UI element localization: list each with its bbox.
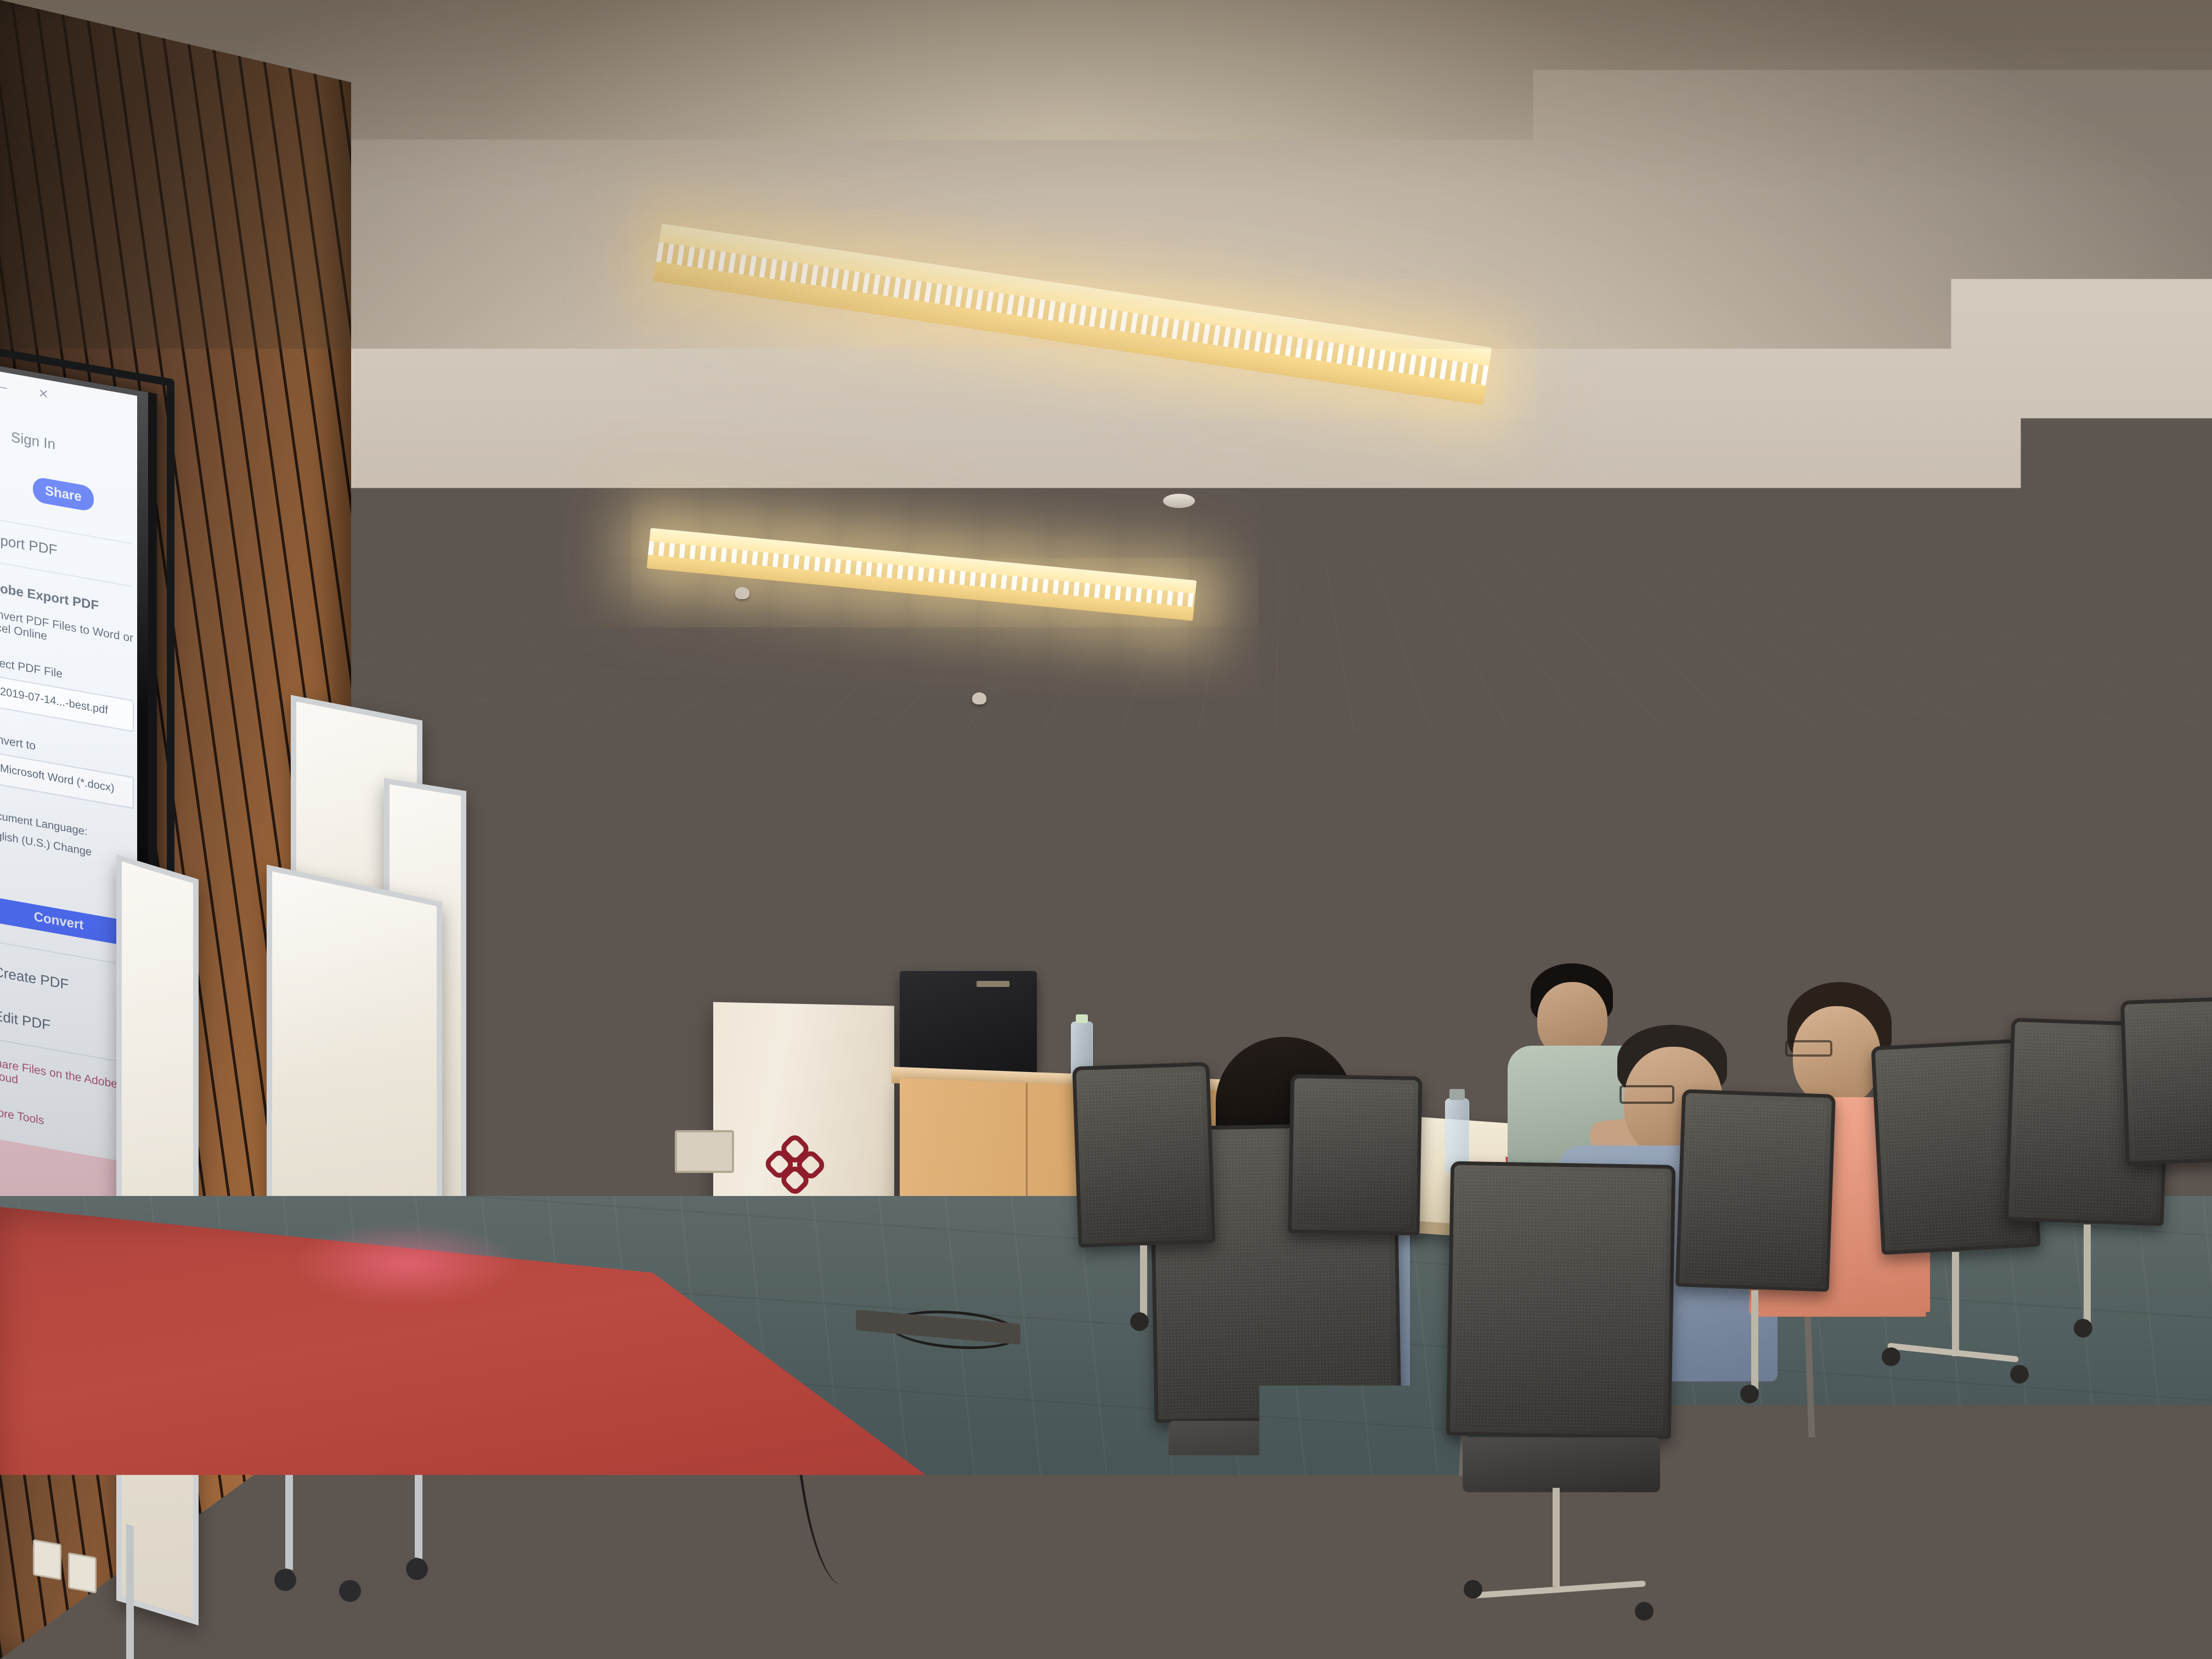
slide-by-label: by	[1157, 827, 1513, 837]
chair-empty-center[interactable]	[1289, 1075, 1426, 1311]
email-icon[interactable]: ✉	[1177, 755, 1187, 765]
chair-mesh-back-4	[1296, 1082, 1414, 1227]
chair-caster-7	[1882, 1347, 1900, 1366]
selected-pdf-field[interactable]: 2019-07-14...-best.pdf ✕	[1551, 827, 1615, 836]
folder-icon	[1140, 1029, 1144, 1035]
chair-mesh-back-11	[1980, 1322, 2212, 1563]
menu-view[interactable]: View	[1160, 726, 1170, 732]
acrobat-icon	[1129, 715, 1134, 721]
page-number-field[interactable]: 1	[1270, 759, 1273, 764]
chair-post-5	[1952, 1252, 1959, 1356]
slide-footer-right: 2019-07-14--revised--2019-07-15a-seminar…	[1378, 1014, 1460, 1020]
chair-caster-2	[1355, 1603, 1374, 1622]
convert-to-label: Convert to	[1551, 843, 1570, 848]
chair-post-6	[2084, 1224, 2091, 1323]
document-tab-close-icon[interactable]: ✕	[1243, 741, 1247, 747]
chair-caster	[1176, 1587, 1195, 1605]
chair-mesh-back-3	[1081, 1070, 1207, 1239]
sign-in-link[interactable]: Sign In	[1599, 743, 1617, 749]
chair-leg-bar	[1185, 1572, 1366, 1594]
minimize-icon[interactable]: –	[1585, 719, 1589, 726]
page-up-icon[interactable]: △	[1241, 756, 1251, 766]
bottle-cap	[1076, 1014, 1088, 1023]
chair-empty-left[interactable]	[1075, 1064, 1218, 1350]
print-icon[interactable]: 🖨	[1162, 755, 1172, 765]
window-controls[interactable]: – ❐ ✕	[1585, 719, 1619, 727]
slide-author: Sami F Masri	[1157, 838, 1513, 850]
menu-file[interactable]: File	[1130, 726, 1138, 732]
export-panel-header-label: Export PDF	[1561, 780, 1587, 786]
attendee-glasses	[1620, 1085, 1674, 1104]
export-panel-header[interactable]: Export PDF	[1547, 776, 1622, 789]
carpet-light-spill	[291, 1222, 521, 1305]
monitor-brand-badge	[977, 981, 1009, 987]
clear-selection-icon[interactable]: ✕	[1609, 830, 1612, 834]
share-button[interactable]: ⤒ Share	[1584, 759, 1617, 770]
av-monitor[interactable]	[900, 971, 1037, 1075]
fit-page-icon[interactable]: ☐	[1355, 757, 1364, 767]
highlight-icon[interactable]: ✎	[1401, 758, 1410, 768]
convert-to-value: Microsoft Word (*.docx)	[1554, 853, 1594, 857]
menu-edit[interactable]: Edit	[1145, 726, 1153, 732]
convert-to-select[interactable]: Microsoft Word (*.docx) ⌄	[1551, 851, 1615, 860]
presenter-glasses	[782, 888, 824, 898]
document-language-value[interactable]: English (U.S.) Change	[1551, 876, 1590, 882]
hand-tool-icon[interactable]: ✋	[1294, 757, 1304, 766]
wastebasket	[675, 1130, 734, 1173]
windows-start-icon[interactable]	[1126, 1029, 1132, 1035]
document-tab-label: 2019-07-14--revi...	[1197, 740, 1238, 746]
comment-icon[interactable]: 🗨	[1385, 758, 1395, 768]
menu-window[interactable]: Window	[1177, 727, 1194, 732]
export-pdf-icon	[1552, 779, 1558, 786]
share-icon: ⤒	[1590, 761, 1592, 768]
collapse-icon[interactable]: ▲	[1611, 781, 1616, 786]
window-blind-far-right[interactable]	[2063, 730, 2210, 840]
lecture-room-photo: – ✕ Sign In Share Export PDF Adobe Expor…	[0, 0, 2212, 1659]
acrobat-taskbar-icon	[1186, 1029, 1190, 1035]
export-panel-subtitle: Convert PDF Files to Word or Excel Onlin…	[1551, 800, 1615, 812]
window-title-text: 2019-07-14--revised--2019-07-15a-seminar…	[1136, 716, 1496, 725]
zoom-out-icon[interactable]: ⊖	[1309, 757, 1319, 766]
chair-post-3	[1140, 1245, 1147, 1317]
slide-venue: Hong Kong Polytechnic University	[1156, 946, 1511, 958]
page-down-icon[interactable]: ▽	[1256, 756, 1266, 766]
slide-title: Structural Vibration Control of Nonlinea…	[1158, 791, 1513, 806]
chevron-down-icon[interactable]: ⌄	[1609, 854, 1612, 858]
chair-foreground-far-right[interactable]	[1986, 1328, 2212, 1657]
save-icon[interactable]: ⦻	[1147, 755, 1156, 765]
menu-help[interactable]: Help	[1201, 727, 1211, 732]
select-tool-icon[interactable]: ➤	[1278, 757, 1288, 766]
selected-pdf-value: 2019-07-14...-best.pdf	[1554, 829, 1592, 833]
maximize-icon[interactable]: ❐	[1599, 719, 1604, 726]
tab-home[interactable]: Home	[1132, 739, 1149, 746]
slide-affiliation: Astani Department of Civil and Environme…	[1156, 851, 1513, 899]
slide-presentation-label: Presentation at	[1156, 928, 1511, 938]
close-icon[interactable]: ✕	[1614, 720, 1619, 727]
chair-right-3[interactable]	[2123, 998, 2212, 1229]
sign-in-area[interactable]: ? Sign In	[1587, 742, 1617, 751]
window-far-right	[2057, 724, 2212, 1028]
polyu-knot-logo	[760, 1129, 830, 1200]
chair-seat	[1169, 1421, 1388, 1481]
microphone-capsule-icon	[868, 929, 883, 944]
share-label: Share	[1595, 761, 1609, 768]
file-icon[interactable]: 🖹	[1131, 755, 1141, 765]
select-pdf-label: Select PDF File	[1551, 819, 1579, 825]
attendee-glasses-2	[1785, 1040, 1832, 1057]
scroll-mode-icon[interactable]: ☰	[1370, 757, 1380, 767]
slide-page-number: 1	[1504, 1020, 1505, 1023]
document-tab[interactable]: 2019-07-14--revi... ✕	[1197, 740, 1247, 747]
help-icon[interactable]: ?	[1587, 742, 1595, 750]
bottle-cap-table	[1449, 1089, 1465, 1100]
document-language-label: Document Language:	[1551, 869, 1589, 874]
clipboard-icon[interactable]: ⧉	[1611, 794, 1615, 800]
convert-button[interactable]: Convert	[1552, 938, 1613, 950]
zoom-level[interactable]: 103%	[1338, 759, 1350, 764]
mouse-cursor-icon	[1484, 780, 1488, 785]
search-icon[interactable]: 🔍	[1193, 755, 1203, 765]
chair-mesh-back-8	[2129, 1005, 2212, 1157]
chair-post	[1267, 1476, 1274, 1580]
tab-tools[interactable]: Tools	[1161, 739, 1176, 746]
chair-caster-5	[1130, 1312, 1149, 1331]
zoom-in-icon[interactable]: ⊕	[1324, 757, 1334, 767]
slide-date: 22 July 2019	[1155, 964, 1511, 974]
window-blind-right[interactable]	[1697, 714, 2026, 829]
adobe-export-pdf-title: Adobe Export PDF	[1552, 793, 1593, 799]
chair-mesh-back-5	[1684, 1098, 1827, 1284]
